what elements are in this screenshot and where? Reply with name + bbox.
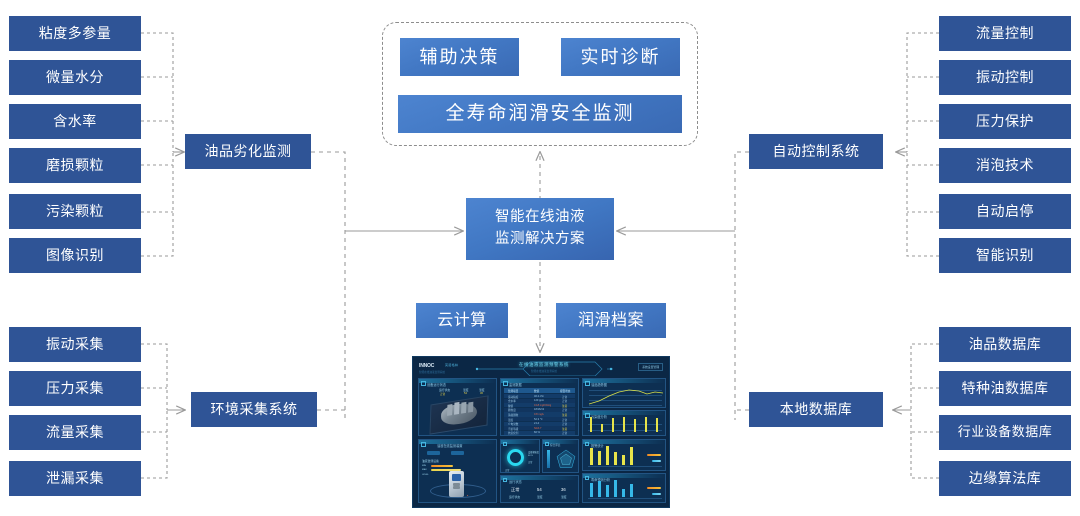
leaf-label: 图像识别 — [46, 247, 104, 265]
table-row[interactable]: 运动粘度 46.2 cSt 正常 — [504, 394, 575, 398]
leaf-intelligent-recognition[interactable]: 智能识别 — [939, 238, 1071, 273]
table-row[interactable]: 酸值 0.18 mgKOH/g 注意 — [504, 403, 575, 407]
feature-box-cloud-computing[interactable]: 云计算 — [416, 303, 508, 338]
leaf-flow-acquisition[interactable]: 流量采集 — [9, 415, 141, 450]
leaf-label: 边缘算法库 — [969, 470, 1042, 488]
leaf-label: 泄漏采集 — [46, 470, 104, 488]
feature-box-lubrication-archive-label: 润滑档案 — [578, 311, 644, 331]
leaf-special-oil-database[interactable]: 特种油数据库 — [939, 371, 1071, 406]
table-row[interactable]: 温度 52.3 ℃ 正常 — [504, 417, 575, 421]
dashboard-title-sub: 智能在线油液监测系统 — [475, 369, 613, 373]
trend-line-chart — [589, 387, 663, 406]
leaf-label: 油品数据库 — [969, 336, 1042, 354]
hub-automatic-control-system[interactable]: 自动控制系统 — [749, 134, 883, 169]
leaf-label: 粘度多参量 — [39, 25, 112, 43]
hub-automatic-control-system-label: 自动控制系统 — [773, 143, 860, 161]
bar-chart-yellow — [590, 416, 662, 432]
feature-box-diagnosis-label: 实时诊断 — [581, 46, 661, 69]
hub-local-database[interactable]: 本地数据库 — [749, 392, 883, 427]
dashboard-panel-trend-line[interactable]: 油品趋势图 — [582, 378, 666, 408]
panel-icon — [585, 476, 589, 480]
leaf-viscosity-multiparameter[interactable]: 粘度多参量 — [9, 16, 141, 51]
feature-box-decision[interactable]: 辅助决策 — [400, 38, 519, 76]
dashboard-panel-contamination-bars[interactable]: 污染度分析 — [582, 410, 666, 436]
leaf-label: 振动采集 — [46, 336, 104, 354]
leaf-label: 压力保护 — [976, 113, 1034, 131]
leaf-label: 磨损颗粒 — [46, 157, 104, 175]
bar-chart-alarm — [590, 445, 644, 465]
dashboard-panel-status-card[interactable]: 运行状态 正常 54 36 运行状态 温度 湿度 — [500, 475, 579, 503]
leaf-image-recognition[interactable]: 图像识别 — [9, 238, 141, 273]
leaf-wear-particles[interactable]: 磨损颗粒 — [9, 148, 141, 183]
center-node-line2: 监测解决方案 — [495, 229, 585, 251]
table-row[interactable]: 污染等级 NAS 7 注意 — [504, 426, 575, 430]
leaf-label: 自动启停 — [976, 203, 1034, 221]
dashboard-screenshot[interactable]: INNOC 英诺格林 智能在线油液监测系统 在线油液监测预警系统 智能在线油液监… — [412, 356, 670, 508]
dashboard-title: 在线油液监测预警系统 — [475, 362, 613, 368]
feature-box-cloud-computing-label: 云计算 — [437, 311, 487, 331]
diagram-canvas: 辅助决策 实时诊断 全寿命润滑安全监测 智能在线油液 监测解决方案 云计算 润滑… — [0, 0, 1080, 516]
panel-icon — [503, 442, 507, 446]
machine-3d-render — [429, 395, 488, 434]
dashboard-panel-3d-model[interactable]: 设备运行状态 运行状态 温度 湿度 正常 54 36 — [418, 378, 497, 436]
feature-box-decision-label: 辅助决策 — [420, 46, 500, 69]
panel-icon — [545, 442, 549, 446]
leaf-label: 流量控制 — [976, 25, 1034, 43]
leaf-edge-algorithm-library[interactable]: 边缘算法库 — [939, 461, 1071, 496]
leaf-water-content[interactable]: 含水率 — [9, 104, 141, 139]
leaf-trace-moisture[interactable]: 微量水分 — [9, 60, 141, 95]
feature-box-lifecycle-label: 全寿命润滑安全监测 — [445, 102, 634, 126]
leaf-flow-control[interactable]: 流量控制 — [939, 16, 1071, 51]
leaf-contamination-particles[interactable]: 污染颗粒 — [9, 194, 141, 229]
leaf-label: 流量采集 — [46, 424, 104, 442]
table-row[interactable]: 颗粒度 18/16/13 正常 — [504, 408, 575, 412]
dashboard-logo-tagline: 智能在线油液监测系统 — [419, 370, 445, 374]
leaf-label: 振动控制 — [976, 69, 1034, 87]
panel-icon — [585, 442, 589, 446]
leaf-leakage-acquisition[interactable]: 泄漏采集 — [9, 461, 141, 496]
dashboard-panel-monitoring-device[interactable]: 油液在线监测装置 油液监测设备 MIN MAX LEVEL ● — [418, 439, 497, 503]
panel-icon — [503, 381, 508, 386]
leaf-vibration-control[interactable]: 振动控制 — [939, 60, 1071, 95]
table-row[interactable]: 铁磁颗粒 0.8 mg/L 注意 — [504, 412, 575, 416]
table-header-row: 监测项目 数值 报警状态 — [504, 388, 575, 393]
panel-icon — [585, 381, 590, 386]
leaf-label: 消泡技术 — [976, 157, 1034, 175]
dashboard-settings-button[interactable]: 系统设置管理 — [638, 363, 663, 371]
leaf-automatic-start-stop[interactable]: 自动启停 — [939, 194, 1071, 229]
hub-local-database-label: 本地数据库 — [780, 401, 853, 419]
panel-icon — [421, 442, 426, 447]
leaf-label: 行业设备数据库 — [958, 424, 1053, 440]
dashboard-panel-data-table[interactable]: 监测数据 监测项目 数值 报警状态 运动粘度 46.2 cSt 正常 含水率 — [500, 378, 579, 436]
table-row[interactable]: 含水率 120 ppm 正常 — [504, 399, 575, 403]
leaf-label: 特种油数据库 — [962, 380, 1049, 398]
dashboard-panel-life-prediction-bars[interactable]: 寿命预测分析 — [582, 473, 666, 503]
leaf-label: 智能识别 — [976, 247, 1034, 265]
dashboard-logo-sub: 英诺格林 — [445, 363, 458, 367]
bar-chart-life — [590, 479, 644, 497]
hub-oil-degradation-monitoring-label: 油品劣化监测 — [205, 143, 292, 161]
center-node-line1: 智能在线油液 — [495, 207, 585, 229]
leaf-oil-database[interactable]: 油品数据库 — [939, 327, 1071, 362]
feature-box-diagnosis[interactable]: 实时诊断 — [561, 38, 680, 76]
dashboard-panel-alarm-bars[interactable]: 报警统计 — [582, 439, 666, 471]
hub-environment-acquisition-system-label: 环境采集系统 — [211, 401, 298, 419]
leaf-vibration-acquisition[interactable]: 振动采集 — [9, 327, 141, 362]
leaf-label: 含水率 — [53, 113, 97, 131]
hub-environment-acquisition-system[interactable]: 环境采集系统 — [191, 392, 317, 427]
dashboard-panel-radar[interactable]: 综合评估 — [542, 439, 579, 473]
leaf-label: 污染颗粒 — [46, 203, 104, 221]
leaf-label: 微量水分 — [46, 69, 104, 87]
device-photo — [449, 471, 464, 497]
center-node-solution[interactable]: 智能在线油液 监测解决方案 — [466, 198, 614, 260]
leaf-label: 压力采集 — [46, 380, 104, 398]
table-row[interactable]: 抗氧化剂 82 % 正常 — [504, 431, 575, 435]
leaf-pressure-acquisition[interactable]: 压力采集 — [9, 371, 141, 406]
feature-box-lubrication-archive[interactable]: 润滑档案 — [556, 303, 666, 338]
health-donut-chart — [507, 449, 524, 466]
leaf-defoaming-technology[interactable]: 消泡技术 — [939, 148, 1071, 183]
panel-icon — [421, 381, 426, 386]
feature-box-lifecycle[interactable]: 全寿命润滑安全监测 — [398, 95, 682, 133]
hub-oil-degradation-monitoring[interactable]: 油品劣化监测 — [185, 134, 311, 169]
table-row[interactable]: 介电常数 2.14 正常 — [504, 422, 575, 426]
dashboard-panel-health-donut[interactable]: 设备健康度 68 % 正常 正常 — [500, 439, 540, 473]
gauge-bar — [547, 450, 550, 468]
leaf-pressure-protection[interactable]: 压力保护 — [939, 104, 1071, 139]
dashboard-logo: INNOC — [419, 363, 434, 369]
panel-icon — [503, 478, 507, 482]
leaf-industry-equipment-database[interactable]: 行业设备数据库 — [939, 415, 1071, 450]
radar-chart — [555, 449, 577, 471]
